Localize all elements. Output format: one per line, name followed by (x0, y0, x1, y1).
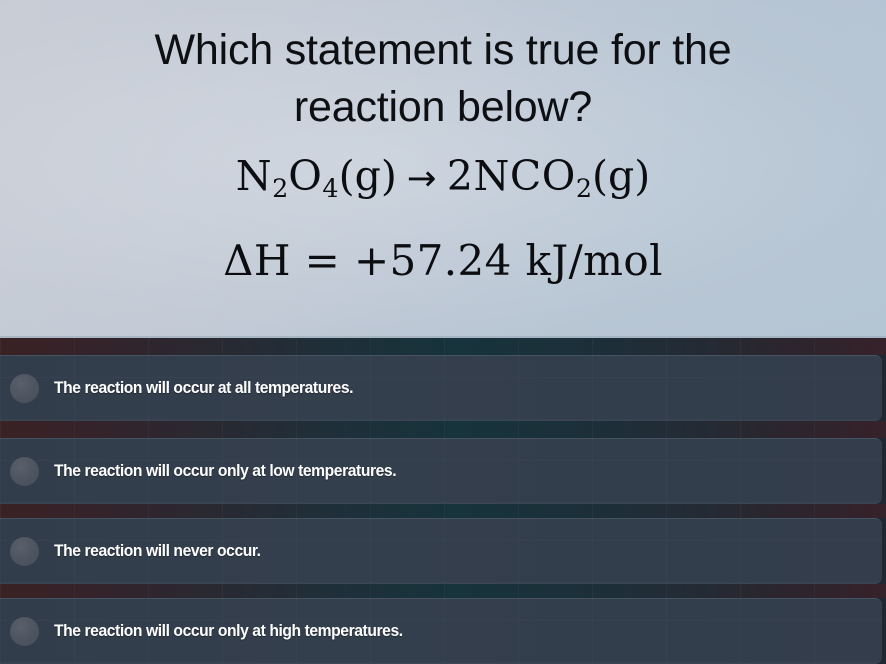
answer-option-b[interactable]: The reaction will occur only at low temp… (0, 438, 882, 504)
chemical-equation: N2O4(g)→2NCO2(g) (53, 152, 833, 212)
question-image-panel: Which statement is true for the reaction… (0, 0, 886, 338)
equation-product-state: (g) (592, 152, 650, 200)
equation-reactant-state: (g) (339, 152, 397, 200)
enthalpy-value: ΔH = +57.24 kJ/mol (53, 236, 833, 286)
equation-reactant-subscript-2: 4 (322, 173, 338, 203)
answer-option-label-c: The reaction will never occur. (54, 541, 261, 561)
equation-reactant-symbol-1: N (236, 152, 272, 200)
row-separator-2 (0, 504, 886, 518)
radio-button-icon-a[interactable] (10, 374, 39, 403)
equation-product-coefficient: 2 (447, 152, 474, 200)
equation-product-subscript-1: 2 (576, 173, 592, 203)
answer-option-label-d: The reaction will occur only at high tem… (54, 621, 403, 641)
answer-option-a[interactable]: The reaction will occur at all temperatu… (0, 355, 882, 421)
radio-button-icon-d[interactable] (10, 617, 39, 646)
answer-option-c[interactable]: The reaction will never occur. (0, 518, 882, 584)
radio-button-icon-c[interactable] (10, 537, 39, 566)
row-separator-1 (0, 421, 886, 438)
answer-options-list: The reaction will occur at all temperatu… (0, 338, 886, 664)
radio-button-icon-b[interactable] (10, 457, 39, 486)
quiz-screen: Which statement is true for the reaction… (0, 0, 886, 636)
row-separator-3 (0, 584, 886, 598)
reaction-arrow-icon: → (397, 158, 447, 199)
row-separator-0 (0, 338, 886, 355)
equation-reactant-symbol-2: O (288, 152, 322, 200)
question-title: Which statement is true for the reaction… (63, 22, 823, 136)
answer-option-label-b: The reaction will occur only at low temp… (54, 461, 396, 481)
answer-option-d[interactable]: The reaction will occur only at high tem… (0, 598, 882, 664)
answer-option-label-a: The reaction will occur at all temperatu… (54, 378, 353, 398)
equation-reactant-subscript-1: 2 (272, 173, 288, 203)
equation-product-symbol-1: NCO (473, 152, 575, 200)
